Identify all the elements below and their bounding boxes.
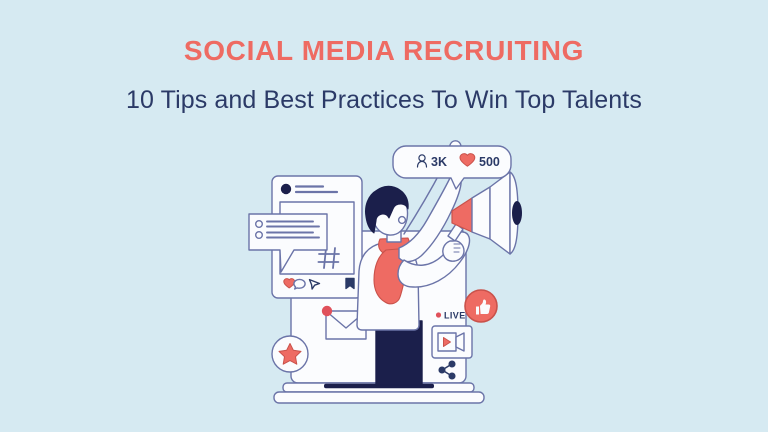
likes-count: 500: [479, 155, 500, 169]
avatar-icon: [281, 184, 291, 194]
page-subtitle: 10 Tips and Best Practices To Win Top Ta…: [0, 68, 768, 116]
comment-icon: [294, 279, 305, 289]
notification-dot-icon: [322, 306, 332, 316]
banner-text-block: SOCIAL MEDIA RECRUITING 10 Tips and Best…: [0, 34, 768, 116]
thumbs-up-badge-icon: [465, 290, 497, 322]
record-dot-icon: [436, 312, 441, 317]
live-badge-label: LIVE: [444, 311, 466, 321]
social-media-recruiting-banner: SOCIAL MEDIA RECRUITING 10 Tips and Best…: [0, 0, 768, 432]
social-media-recruiting-illustration: LIVE: [236, 136, 536, 406]
star-badge-icon: [272, 336, 308, 372]
page-title: SOCIAL MEDIA RECRUITING: [0, 34, 768, 68]
video-play-icon: [432, 326, 472, 358]
followers-count: 3K: [431, 155, 447, 169]
